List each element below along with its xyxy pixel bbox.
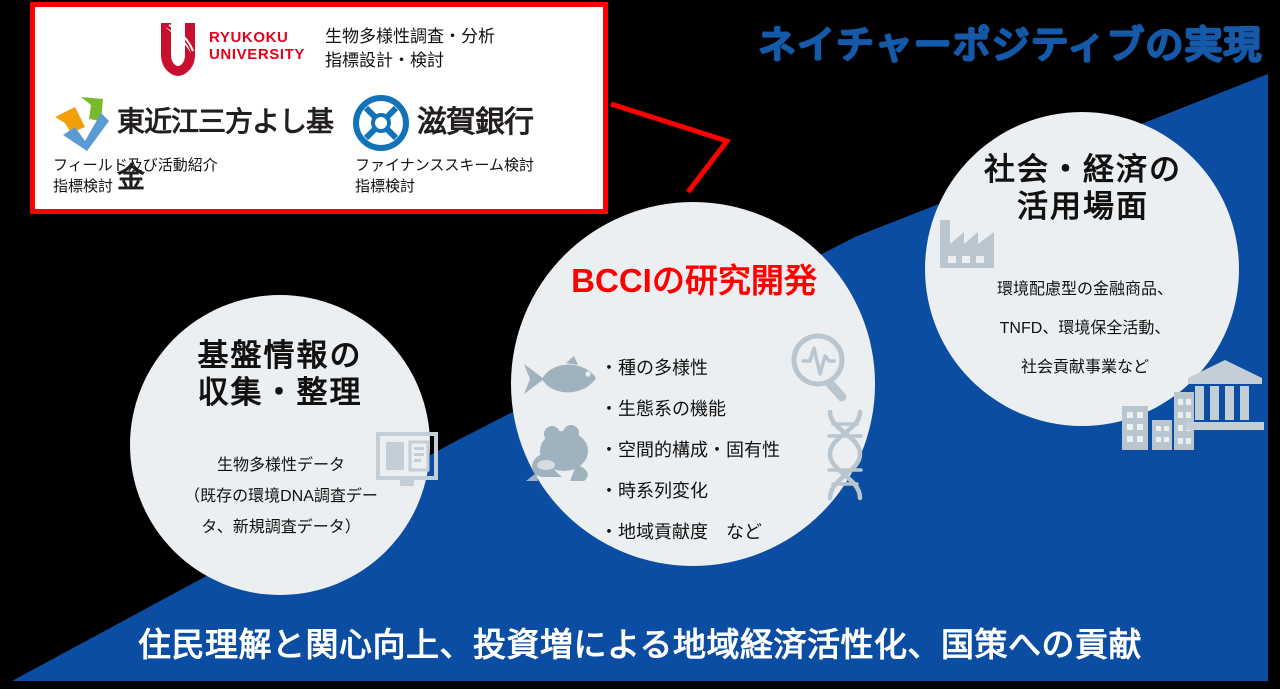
ryukoku-role-line2: 指標設計・検討: [325, 49, 495, 73]
ryukoku-role-text: 生物多様性調査・分析 指標設計・検討: [325, 25, 495, 73]
middle-circle-item-list: ・種の多様性 ・生態系の機能 ・空間的構成・固有性 ・時系列変化 ・地域貢献度 …: [600, 348, 850, 553]
shiga-bank-logo: [353, 95, 409, 151]
left-circle-body-line1: 生物多様性データ: [150, 450, 412, 481]
bottom-banner-text: 住民理解と関心向上、投資増による地域経済活性化、国策への貢献: [0, 618, 1280, 666]
shiga-bank-role-line1: ファイナンススキーム検討: [355, 155, 534, 176]
middle-circle-title: BCCIの研究開発: [520, 262, 868, 301]
list-item: ・生態系の機能: [600, 389, 850, 430]
office-building-icon: [1122, 392, 1194, 450]
ryukoku-university-logo: [155, 21, 201, 77]
higashiomi-sanpouyoshi-fund-logo: [51, 95, 111, 153]
right-circle-title-line1: 社会・経済の: [930, 152, 1236, 189]
left-circle-title-line2: 収集・整理: [140, 375, 420, 412]
ryukoku-name-line2: UNIVERSITY: [209, 46, 305, 63]
shiga-bank-wordmark: 滋賀銀行: [417, 95, 533, 151]
infographic-canvas: 基盤情報の 収集・整理 生物多様性データ （既存の環境DNA調査デー タ、新規調…: [0, 0, 1280, 689]
fish-icon: [522, 356, 600, 402]
ryukoku-role-line1: 生物多様性調査・分析: [325, 25, 495, 49]
partner-ryukoku: RYUKOKU UNIVERSITY 生物多様性調査・分析 指標設計・検討: [155, 21, 495, 77]
right-circle-body-line1: 環境配慮型の金融商品、: [940, 270, 1230, 309]
shiga-bank-role-line2: 指標検討: [355, 176, 534, 197]
sanpouyoshi-role-line2: 指標検討: [53, 176, 218, 197]
right-circle-title: 社会・経済の 活用場面: [930, 152, 1236, 225]
left-circle-body-line2: （既存の環境DNA調査デー: [150, 481, 412, 512]
right-circle-body: 環境配慮型の金融商品、 TNFD、環境保全活動、 社会貢献事業など: [940, 270, 1230, 387]
right-circle-body-line2: TNFD、環境保全活動、: [940, 309, 1230, 348]
partner-shiga-bank: 滋賀銀行: [353, 95, 533, 151]
left-circle-body-line3: タ、新規調査データ）: [150, 512, 412, 543]
list-item: ・地域貢献度 など: [600, 512, 850, 553]
list-item: ・時系列変化: [600, 471, 850, 512]
right-circle-body-line3: 社会貢献事業など: [940, 348, 1230, 387]
list-item: ・種の多様性: [600, 348, 850, 389]
left-circle-body: 生物多様性データ （既存の環境DNA調査デー タ、新規調査データ）: [150, 450, 412, 543]
shiga-bank-role-text: ファイナンススキーム検討 指標検討: [355, 155, 534, 197]
left-circle-title: 基盤情報の 収集・整理: [140, 338, 420, 411]
frog-icon: [524, 425, 596, 487]
sanpouyoshi-role-line1: フィールド及び活動紹介: [53, 155, 218, 176]
partner-organizations-box: RYUKOKU UNIVERSITY 生物多様性調査・分析 指標設計・検討 東近…: [30, 2, 608, 214]
list-item: ・空間的構成・固有性: [600, 430, 850, 471]
right-circle-title-line2: 活用場面: [930, 189, 1236, 226]
ryukoku-name-line1: RYUKOKU: [209, 29, 305, 46]
ryukoku-university-wordmark: RYUKOKU UNIVERSITY: [209, 29, 305, 63]
sanpouyoshi-role-text: フィールド及び活動紹介 指標検討: [53, 155, 218, 197]
left-circle-title-line1: 基盤情報の: [140, 338, 420, 375]
page-title: ネイチャーポジティブの実現: [758, 14, 1262, 69]
